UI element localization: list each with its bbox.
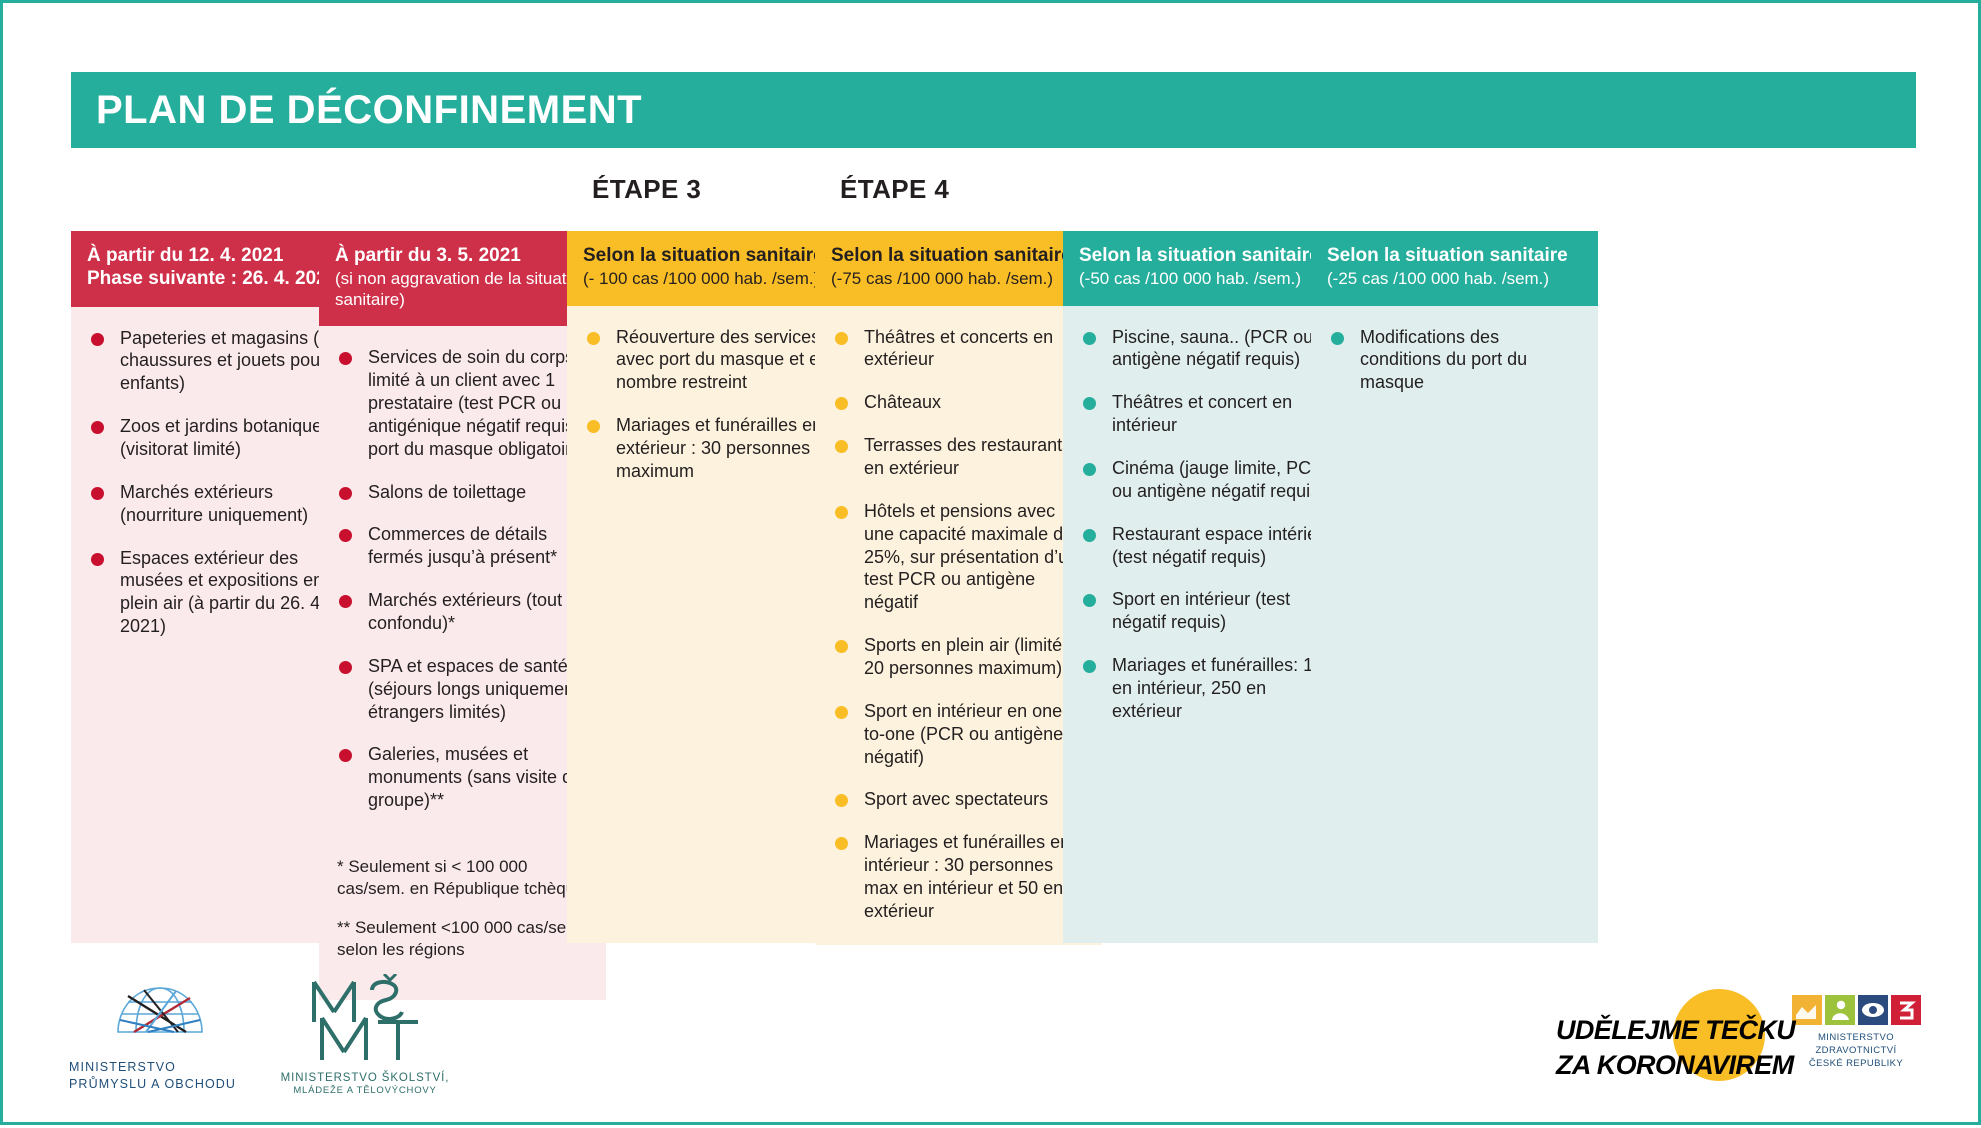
list-item: Modifications des conditions du port du … — [1327, 326, 1582, 395]
list-item-label: Terrasses des restaurants en extérieur — [864, 434, 1086, 480]
step-column-3: Selon la situation sanitaire(- 100 cas /… — [567, 231, 854, 943]
list-item: Galeries, musées et monuments (sans visi… — [335, 743, 590, 812]
list-item: Salons de toilettage — [335, 481, 590, 504]
logo-udelejme-tecku: UDĚLEJME TEČKU ZA KORONAVIREM — [1556, 995, 1771, 1091]
logo-msmt-line2: MLÁDEŽE A TĚLOVÝCHOVY — [265, 1085, 465, 1097]
step-column-body-4: Théâtres et concerts en extérieurChâteau… — [815, 306, 1102, 945]
list-item: Espaces extérieur des musées et expositi… — [87, 547, 342, 638]
list-item: Marchés extérieurs (nourriture uniquemen… — [87, 481, 342, 527]
step-header-sub-4: (-75 cas /100 000 hab. /sem.) — [831, 269, 1086, 290]
bullet-dot-icon — [835, 706, 848, 719]
bullet-dot-icon — [339, 529, 352, 542]
step-column-body-1: Papeteries et magasins (de chaussures et… — [71, 307, 358, 943]
bullet-dot-icon — [835, 440, 848, 453]
list-item-label: Châteaux — [864, 391, 1086, 414]
logo-ministerstvo-zdravotnictvi: MINISTERSTVO ZDRAVOTNICTVÍ ČESKÉ REPUBLI… — [1781, 995, 1931, 1070]
measure-list-6: Modifications des conditions du port du … — [1327, 326, 1582, 395]
step-column-6: Selon la situation sanitaire(-25 cas /10… — [1311, 231, 1598, 943]
list-item: Mariages et funérailles en intérieur : 3… — [831, 831, 1086, 922]
step-column-1: À partir du 12. 4. 2021 Phase suivante :… — [71, 231, 358, 943]
step-column-header-2: À partir du 3. 5. 2021(si non aggravatio… — [319, 231, 606, 326]
measure-list-3: Réouverture des services avec port du ma… — [583, 326, 838, 483]
step-arrow-row: ÉTAPE 1ÉTAPE 2ÉTAPE 3ÉTAPE 4ÉTAPE 5ÉTAPE… — [71, 159, 1916, 219]
step-column-body-5: Piscine, sauna.. (PCR ou antigène négati… — [1063, 306, 1350, 943]
step-column-body-2: Services de soin du corps limité à un cl… — [319, 326, 606, 1000]
mzcr-tile-yellow — [1792, 995, 1822, 1025]
step-column-2: À partir du 3. 5. 2021(si non aggravatio… — [319, 231, 606, 1000]
bullet-dot-icon — [339, 661, 352, 674]
list-item-label: Sport en intérieur (test négatif requis) — [1112, 588, 1334, 634]
step-column-header-4: Selon la situation sanitaire(-75 cas /10… — [815, 231, 1102, 306]
step-arrow-label-5: ÉTAPE 5 — [1088, 174, 1197, 205]
mzcr-tile-blue — [1858, 995, 1888, 1025]
step-arrow-label-2: ÉTAPE 2 — [344, 174, 453, 205]
step-header-sub-6: (-25 cas /100 000 hab. /sem.) — [1327, 269, 1582, 290]
step-column-body-6: Modifications des conditions du port du … — [1311, 306, 1598, 943]
step-column-body-3: Réouverture des services avec port du ma… — [567, 306, 854, 943]
list-item-label: Marchés extérieurs (nourriture uniquemen… — [120, 481, 342, 527]
bullet-dot-icon — [339, 749, 352, 762]
step-header-sub-2: (si non aggravation de la situation sani… — [335, 269, 590, 310]
page-title: PLAN DE DÉCONFINEMENT — [71, 88, 642, 133]
bullet-dot-icon — [835, 397, 848, 410]
list-item-label: Commerces de détails fermés jusqu’à prés… — [368, 523, 590, 569]
step-header-main-1: À partir du 12. 4. 2021 Phase suivante :… — [87, 245, 342, 291]
bullet-dot-icon — [1083, 397, 1096, 410]
logo-mpo-line2: PRŮMYSLU A OBCHODU — [69, 1076, 255, 1093]
mzcr-tile-red — [1891, 995, 1921, 1025]
logo-ministerstvo-skolstvi: MINISTERSTVO ŠKOLSTVÍ, MLÁDEŽE A TĚLOVÝC… — [265, 974, 465, 1097]
bullet-dot-icon — [339, 595, 352, 608]
list-item: Sport en intérieur (test négatif requis) — [1079, 588, 1334, 634]
list-item-label: Mariages et funérailles en intérieur : 3… — [864, 831, 1086, 922]
list-item: Sports en plein air (limité à 20 personn… — [831, 634, 1086, 680]
infographic-page: PLAN DE DÉCONFINEMENT ÉTAPE 1ÉTAPE 2ÉTAP… — [0, 0, 1981, 1125]
list-item: Théâtres et concert en intérieur — [1079, 391, 1334, 437]
step-header-main-3: Selon la situation sanitaire — [583, 245, 838, 268]
step-header-main-5: Selon la situation sanitaire — [1079, 245, 1334, 268]
list-item: Commerces de détails fermés jusqu’à prés… — [335, 523, 590, 569]
list-item-label: Théâtres et concerts en extérieur — [864, 326, 1086, 372]
step-arrow-label-1: ÉTAPE 1 — [96, 174, 205, 205]
list-item-label: Galeries, musées et monuments (sans visi… — [368, 743, 590, 812]
list-item: Sport avec spectateurs — [831, 788, 1086, 811]
list-item-label: Réouverture des services avec port du ma… — [616, 326, 838, 395]
list-item: SPA et espaces de santé (séjours longs u… — [335, 655, 590, 724]
step-header-main-4: Selon la situation sanitaire — [831, 245, 1086, 268]
logo-tecku-line1: UDĚLEJME TEČKU — [1556, 1015, 1795, 1046]
bullet-dot-icon — [1331, 332, 1344, 345]
step-column-header-6: Selon la situation sanitaire(-25 cas /10… — [1311, 231, 1598, 306]
list-item: Réouverture des services avec port du ma… — [583, 326, 838, 395]
step-column-header-1: À partir du 12. 4. 2021 Phase suivante :… — [71, 231, 358, 307]
step-header-main-2: À partir du 3. 5. 2021 — [335, 245, 590, 268]
globe-icon — [65, 986, 255, 1053]
list-item: Sport en intérieur en one-to-one (PCR ou… — [831, 700, 1086, 769]
footnotes-2: * Seulement si < 100 000 cas/sem. en Rép… — [335, 856, 590, 960]
list-item: Services de soin du corps limité à un cl… — [335, 346, 590, 460]
list-item: Hôtels et pensions avec une capacité max… — [831, 500, 1086, 614]
list-item-label: Mariages et funérailles: 100 en intérieu… — [1112, 654, 1334, 723]
bullet-dot-icon — [835, 506, 848, 519]
mzcr-tiles-icon — [1781, 995, 1931, 1025]
list-item: Piscine, sauna.. (PCR ou antigène négati… — [1079, 326, 1334, 372]
list-item-label: Restaurant espace intérieur (test négati… — [1112, 523, 1334, 569]
list-item-label: Espaces extérieur des musées et expositi… — [120, 547, 342, 638]
list-item: Théâtres et concerts en extérieur — [831, 326, 1086, 372]
msmt-monogram-icon — [265, 974, 465, 1071]
list-item-label: Sports en plein air (limité à 20 personn… — [864, 634, 1086, 680]
logo-mzcr-line2: ČESKÉ REPUBLIKY — [1781, 1058, 1931, 1071]
step-arrow-label-3: ÉTAPE 3 — [592, 174, 701, 205]
list-item-label: Zoos et jardins botaniques (visitorat li… — [120, 415, 342, 461]
step-column-header-3: Selon la situation sanitaire(- 100 cas /… — [567, 231, 854, 306]
list-item-label: Cinéma (jauge limite, PCR ou antigène né… — [1112, 457, 1334, 503]
logo-msmt-line1: MINISTERSTVO ŠKOLSTVÍ, — [265, 1071, 465, 1085]
list-item-label: Sport avec spectateurs — [864, 788, 1086, 811]
step-header-sub-5: (-50 cas /100 000 hab. /sem.) — [1079, 269, 1334, 290]
bullet-dot-icon — [1083, 660, 1096, 673]
list-item: Mariages et funérailles: 100 en intérieu… — [1079, 654, 1334, 723]
list-item: Mariages et funérailles en extérieur : 3… — [583, 414, 838, 483]
bullet-dot-icon — [91, 553, 104, 566]
list-item-label: Sport en intérieur en one-to-one (PCR ou… — [864, 700, 1086, 769]
list-item: Zoos et jardins botaniques (visitorat li… — [87, 415, 342, 461]
list-item: Terrasses des restaurants en extérieur — [831, 434, 1086, 480]
step-arrow-label-6: ÉTAPE 6 — [1336, 174, 1445, 205]
bullet-dot-icon — [1083, 463, 1096, 476]
page-title-bar: PLAN DE DÉCONFINEMENT — [71, 72, 1916, 148]
list-item-label: Piscine, sauna.. (PCR ou antigène négati… — [1112, 326, 1334, 372]
bullet-dot-icon — [91, 333, 104, 346]
list-item: Cinéma (jauge limite, PCR ou antigène né… — [1079, 457, 1334, 503]
bullet-dot-icon — [339, 352, 352, 365]
footnote: * Seulement si < 100 000 cas/sem. en Rép… — [335, 856, 590, 899]
list-item-label: Marchés extérieurs (tout confondu)* — [368, 589, 590, 635]
bullet-dot-icon — [91, 487, 104, 500]
footer-logos: MINISTERSTVO PRŮMYSLU A OBCHODU MINISTER… — [3, 971, 1981, 1128]
logo-mzcr-line1: MINISTERSTVO ZDRAVOTNICTVÍ — [1781, 1032, 1931, 1058]
list-item-label: Hôtels et pensions avec une capacité max… — [864, 500, 1086, 614]
logo-mpo-line1: MINISTERSTVO — [69, 1059, 255, 1076]
step-header-sub-3: (- 100 cas /100 000 hab. /sem.) — [583, 269, 838, 290]
measure-list-2: Services de soin du corps limité à un cl… — [335, 346, 590, 812]
bullet-dot-icon — [1083, 529, 1096, 542]
mzcr-tile-green — [1825, 995, 1855, 1025]
list-item-label: Salons de toilettage — [368, 481, 590, 504]
bullet-dot-icon — [587, 420, 600, 433]
step-column-5: Selon la situation sanitaire(-50 cas /10… — [1063, 231, 1350, 943]
list-item-label: Services de soin du corps limité à un cl… — [368, 346, 590, 460]
bullet-dot-icon — [339, 487, 352, 500]
list-item: Papeteries et magasins (de chaussures et… — [87, 327, 342, 396]
bullet-dot-icon — [835, 794, 848, 807]
bullet-dot-icon — [1083, 332, 1096, 345]
bullet-dot-icon — [1083, 594, 1096, 607]
list-item-label: SPA et espaces de santé (séjours longs u… — [368, 655, 590, 724]
step-header-main-6: Selon la situation sanitaire — [1327, 245, 1582, 268]
measure-list-4: Théâtres et concerts en extérieurChâteau… — [831, 326, 1086, 923]
measure-list-1: Papeteries et magasins (de chaussures et… — [87, 327, 342, 638]
bullet-dot-icon — [835, 640, 848, 653]
footnote: ** Seulement <100 000 cas/sem., selon le… — [335, 917, 590, 960]
bullet-dot-icon — [835, 332, 848, 345]
bullet-dot-icon — [587, 332, 600, 345]
step-arrow-6[interactable]: ÉTAPE 6 — [1311, 159, 1606, 219]
list-item: Marchés extérieurs (tout confondu)* — [335, 589, 590, 635]
list-item: Châteaux — [831, 391, 1086, 414]
step-column-4: Selon la situation sanitaire(-75 cas /10… — [815, 231, 1102, 945]
list-item-label: Mariages et funérailles en extérieur : 3… — [616, 414, 838, 483]
list-item: Restaurant espace intérieur (test négati… — [1079, 523, 1334, 569]
step-column-header-5: Selon la situation sanitaire(-50 cas /10… — [1063, 231, 1350, 306]
bullet-dot-icon — [835, 837, 848, 850]
bullet-dot-icon — [91, 421, 104, 434]
logo-tecku-line2: ZA KORONAVIREM — [1556, 1050, 1794, 1081]
step-arrow-label-4: ÉTAPE 4 — [840, 174, 949, 205]
list-item-label: Théâtres et concert en intérieur — [1112, 391, 1334, 437]
list-item-label: Papeteries et magasins (de chaussures et… — [120, 327, 342, 396]
measure-list-5: Piscine, sauna.. (PCR ou antigène négati… — [1079, 326, 1334, 723]
list-item-label: Modifications des conditions du port du … — [1360, 326, 1582, 395]
logo-ministerstvo-prumyslu-a-obchodu: MINISTERSTVO PRŮMYSLU A OBCHODU — [65, 986, 255, 1092]
